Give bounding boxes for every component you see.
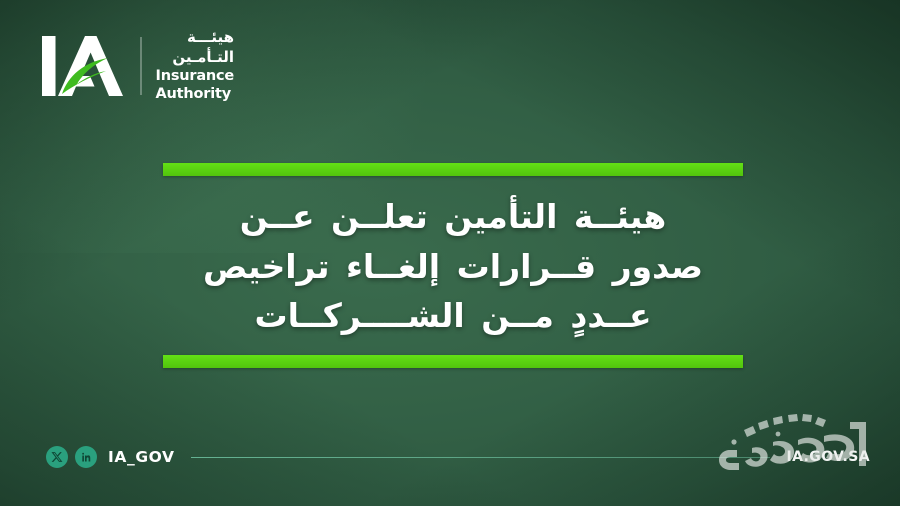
logo-arabic-line-2: التـأمـين xyxy=(156,48,235,67)
x-twitter-icon[interactable] xyxy=(46,446,68,468)
announcement-poster: هيئـــة التـأمـين Insurance Authority هي… xyxy=(0,0,900,506)
social-links xyxy=(46,446,97,468)
footer-bar: IA_GOV IA.GOV.SA xyxy=(46,446,870,468)
linkedin-icon[interactable] xyxy=(75,446,97,468)
headline-block: هيئــة التأمين تعلــن عــن صدور قــرارات… xyxy=(163,163,743,368)
logo-english-line-2: Authority xyxy=(156,86,235,104)
logo-divider xyxy=(140,37,142,95)
headline-line-1: هيئــة التأمين تعلــن عــن xyxy=(163,192,743,242)
footer-divider-rule xyxy=(191,457,771,458)
headline-line-2: صدور قــرارات إلغــاء تراخيص xyxy=(163,242,743,292)
almrbrba-net-watermark-icon xyxy=(674,406,882,484)
headline-line-3: عــددٍ مــن الشــــركــات xyxy=(163,291,743,341)
logo-english-line-1: Insurance xyxy=(156,68,235,86)
brand-logo: هيئـــة التـأمـين Insurance Authority xyxy=(38,28,234,104)
logo-arabic-line-1: هيئـــة xyxy=(156,28,235,47)
ia-monogram-swoosh-icon xyxy=(38,30,126,102)
headline-top-bar xyxy=(163,163,743,176)
logo-wordmark: هيئـــة التـأمـين Insurance Authority xyxy=(156,28,235,104)
social-handle[interactable]: IA_GOV xyxy=(108,448,175,466)
website-url[interactable]: IA.GOV.SA xyxy=(786,449,870,465)
headline-bottom-bar xyxy=(163,355,743,368)
headline-text: هيئــة التأمين تعلــن عــن صدور قــرارات… xyxy=(163,192,743,341)
